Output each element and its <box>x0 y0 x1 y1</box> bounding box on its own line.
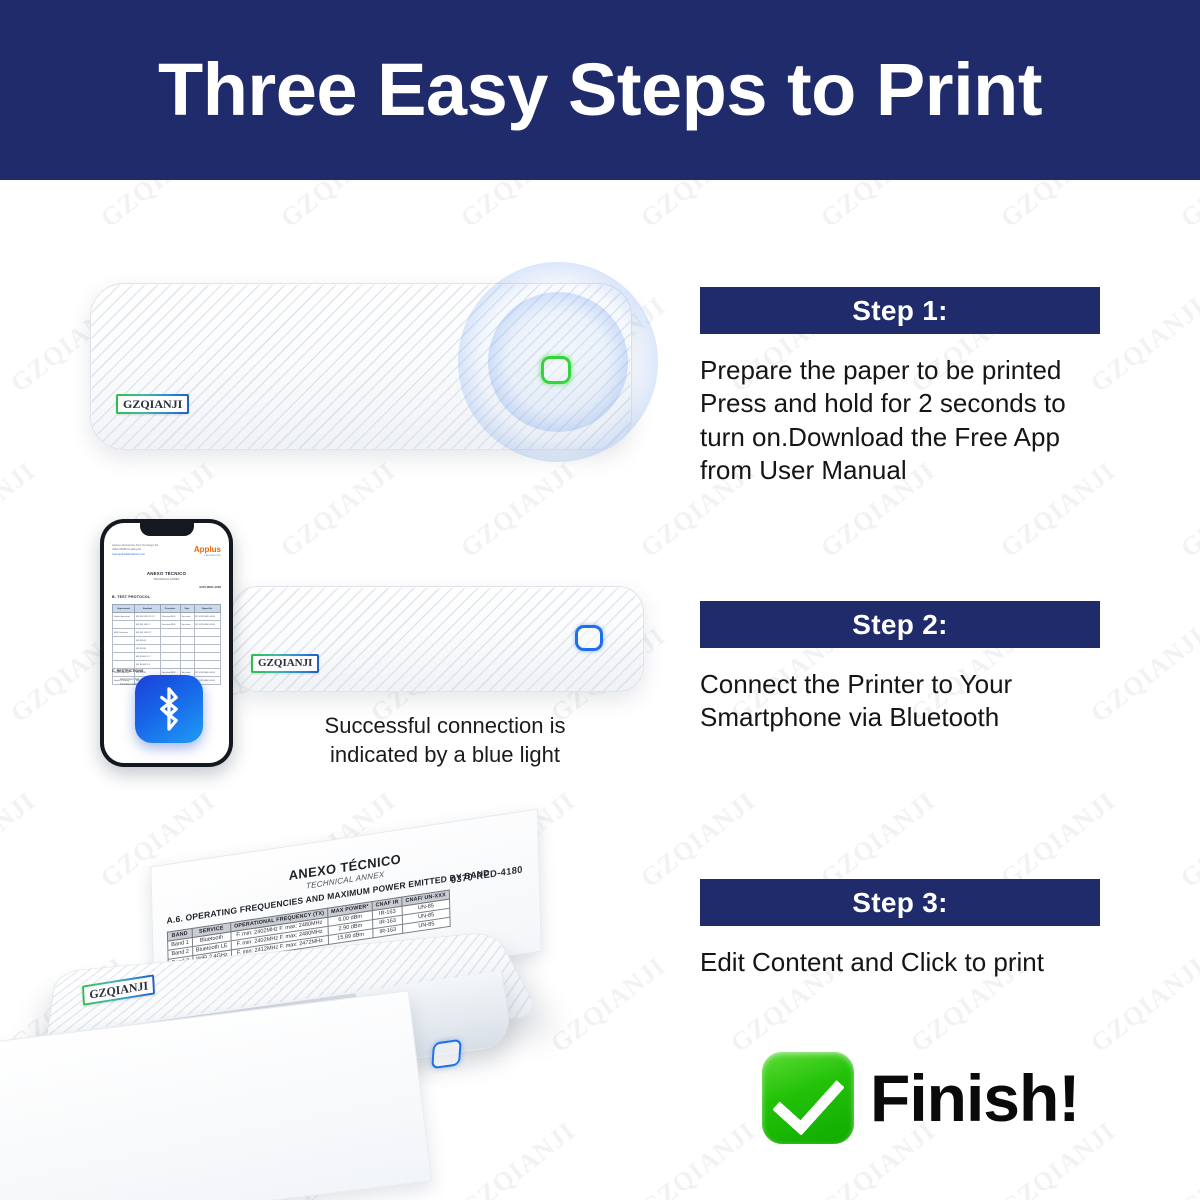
bluetooth-icon[interactable] <box>135 675 203 743</box>
header-banner: Three Easy Steps to Print <box>0 0 1200 180</box>
phone-doc-table-row: EMC DirectiveEN 301 489-17 <box>113 629 221 637</box>
phone-doc-cell <box>180 645 194 653</box>
phone-doc-table-row: EN 61000-3-3 <box>113 661 221 669</box>
step-2-header-bar: Step 2: <box>700 601 1100 648</box>
phone-doc-cell: EMC Directive <box>113 629 135 637</box>
phone-doc-table-row: EN 55032 <box>113 637 221 645</box>
phone-doc-cell <box>194 661 220 669</box>
phone-doc-cell: EN 61000-3-2 <box>135 653 161 661</box>
step-3-header-bar: Step 3: <box>700 879 1100 926</box>
watermark-text: GZQIANJI <box>455 456 581 564</box>
watermark-text: GZQIANJI <box>1175 1116 1200 1200</box>
phone-notch <box>140 523 194 536</box>
phone-doc-table-row: Radio SpectrumEN 300 328 V2.2.2Directive… <box>113 613 221 621</box>
step-2-block: Step 2: Connect the Printer to Your Smar… <box>700 601 1100 735</box>
phone-doc-cell <box>180 661 194 669</box>
phone-doc-brand-sub: Laboratories <box>204 554 221 557</box>
phone-doc-cell <box>180 653 194 661</box>
infographic-page: GZQIANJIGZQIANJIGZQIANJIGZQIANJIGZQIANJI… <box>0 0 1200 1200</box>
watermark-text: GZQIANJI <box>1085 291 1200 399</box>
phone-doc-cell <box>194 637 220 645</box>
phone-doc-cell: EN 301 489-17 <box>135 629 161 637</box>
phone-doc-table-row: EN 301 489-1Directive REDSee noteRT-0370… <box>113 621 221 629</box>
phone-doc-col-header: Date <box>180 605 194 613</box>
step-2-description: Connect the Printer to Your Smartphone v… <box>700 668 1100 735</box>
bluetooth-glyph <box>135 675 203 743</box>
watermark-text: GZQIANJI <box>1085 621 1200 729</box>
phone-doc-cell: See note <box>180 613 194 621</box>
phone-doc-cell <box>113 637 135 645</box>
printer-device-top: GZQIANJI <box>90 283 632 450</box>
phone-doc-col-header: Requirement <box>113 605 135 613</box>
step-2-label: Step 2: <box>852 609 947 641</box>
printing-scene: ANEXO TÉCNICO TECHNICAL ANNEX 0370-RED-4… <box>0 820 660 1200</box>
phone-doc-cell: See note <box>180 621 194 629</box>
printer-logo-top: GZQIANJI <box>116 394 189 414</box>
phone-doc-cell: RT-0370-RED-4180 <box>194 613 220 621</box>
watermark-text: GZQIANJI <box>1175 456 1200 564</box>
phone-doc-subtitle: TECHNICAL ANNEX <box>104 577 229 581</box>
watermark-text: GZQIANJI <box>275 456 401 564</box>
connection-caption: Successful connection is indicated by a … <box>300 712 590 769</box>
step-1-label: Step 1: <box>852 295 947 327</box>
watermark-text: GZQIANJI <box>1085 951 1200 1059</box>
power-button-top[interactable] <box>541 356 571 384</box>
phone-doc-table-row: EN 55035 <box>113 645 221 653</box>
step-3-label: Step 3: <box>852 887 947 919</box>
phone-doc-cell <box>113 653 135 661</box>
phone-doc-cell <box>160 645 180 653</box>
phone-doc-cell <box>113 661 135 669</box>
phone-doc-ref: 0370-RED-4180 <box>199 585 221 589</box>
phone-doc-cell: RT-0370-RED-4180 <box>194 621 220 629</box>
phone-screen: Applus Laboratories Parc Tecnologic del … <box>104 523 229 763</box>
printer-logo-middle: GZQIANJI <box>251 654 319 673</box>
phone-doc-cell <box>180 629 194 637</box>
watermark-text: GZQIANJI <box>1175 786 1200 894</box>
phone-doc-cell <box>180 637 194 645</box>
step-1-header-bar: Step 1: <box>700 287 1100 334</box>
phone-doc-link: www.appluslaboratories.com <box>112 553 145 556</box>
finish-badge: Finish! <box>762 1052 1079 1144</box>
phone-doc-cell: Directive RED <box>160 613 180 621</box>
phone-doc-cell: EN 301 489-1 <box>135 621 161 629</box>
phone-doc-cell <box>160 653 180 661</box>
phone-doc-table-row: EN 61000-3-2 <box>113 653 221 661</box>
phone-doc-title: ANEXO TÉCNICO <box>104 571 229 576</box>
phone-doc-cell <box>194 653 220 661</box>
phone-doc-cell <box>160 661 180 669</box>
phone-doc-cell <box>194 645 220 653</box>
check-icon <box>762 1052 854 1144</box>
phone-doc-cell: EN 55035 <box>135 645 161 653</box>
phone-doc-cell: EN 55032 <box>135 637 161 645</box>
phone-doc-section-c: C. RESTRICTIONS <box>112 669 143 673</box>
phone-doc-cell: Directive RED <box>160 621 180 629</box>
phone-doc-cell <box>160 629 180 637</box>
phone-doc-col-header: Standard <box>135 605 161 613</box>
phone-doc-col-header: Procedure <box>160 605 180 613</box>
phone-doc-meta: Applus Laboratories Parc Tecnologic del … <box>112 544 164 557</box>
page-title: Three Easy Steps to Print <box>158 53 1042 127</box>
watermark-text: GZQIANJI <box>0 456 41 564</box>
phone-doc-cell <box>194 629 220 637</box>
printer-device-middle: GZQIANJI <box>232 586 644 692</box>
phone-doc-cell: EN 300 328 V2.2.2 <box>135 613 161 621</box>
power-button-middle[interactable] <box>575 625 603 651</box>
phone-doc-cell: EN 61000-3-3 <box>135 661 161 669</box>
watermark-text: GZQIANJI <box>995 786 1121 894</box>
step-3-block: Step 3: Edit Content and Click to print <box>700 879 1100 979</box>
phone-doc-cell <box>113 621 135 629</box>
finish-label: Finish! <box>870 1065 1079 1131</box>
smartphone-device: Applus Laboratories Parc Tecnologic del … <box>100 519 233 767</box>
phone-doc-col-header: Report No. <box>194 605 220 613</box>
phone-doc-cell <box>113 645 135 653</box>
phone-doc-cell <box>160 637 180 645</box>
phone-doc-brand: Applus <box>194 545 221 554</box>
watermark-text: GZQIANJI <box>815 786 941 894</box>
step-3-description: Edit Content and Click to print <box>700 946 1100 979</box>
phone-doc-cell: Radio Spectrum <box>113 613 135 621</box>
step-1-description: Prepare the paper to be printed Press an… <box>700 354 1100 487</box>
step-1-block: Step 1: Prepare the paper to be printed … <box>700 287 1100 487</box>
phone-doc-section-b: B. TEST PROTOCOL <box>112 595 150 599</box>
